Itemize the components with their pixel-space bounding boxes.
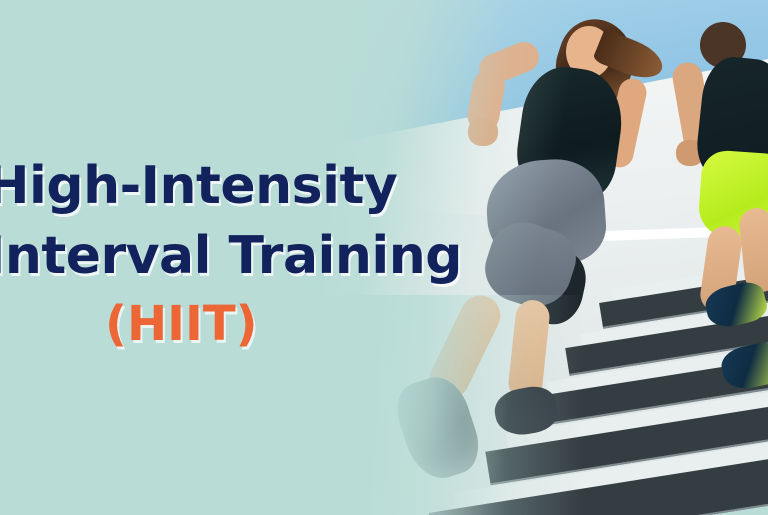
acronym-subheading: (HIIT): [105, 300, 258, 348]
hiit-hero-banner: High-Intensity Interval Training (HIIT): [0, 0, 768, 515]
headline-line-2: Interval Training: [0, 230, 456, 282]
headline-panel: High-Intensity Interval Training (HIIT): [0, 0, 430, 515]
headline-line-1: High-Intensity: [0, 160, 456, 212]
